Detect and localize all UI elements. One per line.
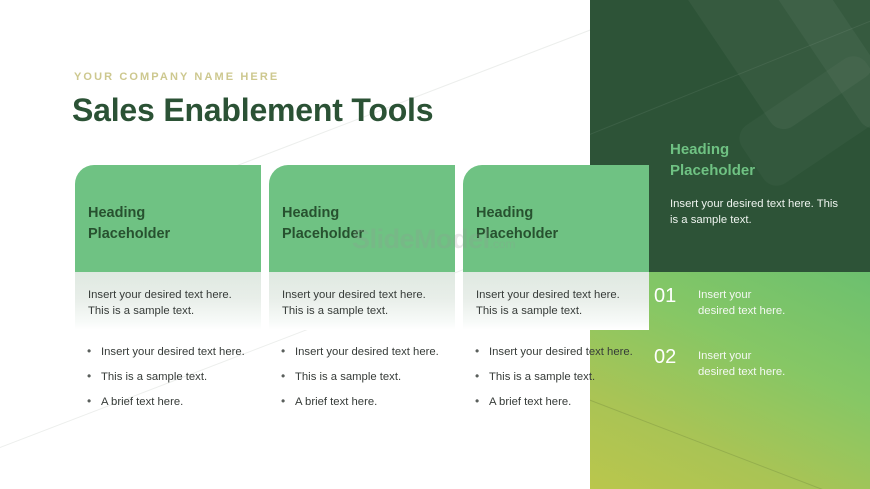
slide-canvas: YOUR COMPANY NAME HERE Sales Enablement … (0, 0, 870, 489)
item-number: 01 (654, 285, 698, 307)
card-body: Insert your desired text here. This is a… (269, 272, 455, 330)
item-number: 02 (654, 346, 698, 368)
card-bullet-list: Insert your desired text here. This is a… (75, 330, 261, 410)
list-item: A brief text here. (101, 394, 255, 410)
list-item: Insert your desired text here. (295, 344, 449, 360)
list-item: This is a sample text. (101, 369, 255, 385)
card-heading: Heading Placeholder (282, 203, 441, 244)
item-text: Insert your desired text here. (698, 285, 828, 320)
card-group: Heading Placeholder Insert your desired … (75, 165, 655, 435)
page-title: Sales Enablement Tools (72, 92, 433, 129)
card-3[interactable]: Heading Placeholder Insert your desired … (463, 165, 649, 419)
card-1[interactable]: Heading Placeholder Insert your desired … (75, 165, 261, 419)
list-item: Insert your desired text here. (489, 344, 643, 360)
list-item: Insert your desired text here. (101, 344, 255, 360)
right-panel-heading: Heading Placeholder (670, 139, 755, 182)
card-body-text: Insert your desired text here. This is a… (476, 287, 637, 319)
list-item: This is a sample text. (489, 369, 643, 385)
company-name-eyebrow: YOUR COMPANY NAME HERE (74, 71, 279, 83)
card-bullet-list: Insert your desired text here. This is a… (463, 330, 649, 410)
card-header: Heading Placeholder (463, 165, 649, 272)
item-text: Insert your desired text here. (698, 346, 828, 381)
list-item: A brief text here. (295, 394, 449, 410)
card-2[interactable]: Heading Placeholder Insert your desired … (269, 165, 455, 419)
card-header: Heading Placeholder (75, 165, 261, 272)
card-header: Heading Placeholder (269, 165, 455, 272)
card-body-text: Insert your desired text here. This is a… (282, 287, 443, 319)
card-heading: Heading Placeholder (88, 203, 247, 244)
card-heading: Heading Placeholder (476, 203, 635, 244)
list-item: This is a sample text. (295, 369, 449, 385)
card-body: Insert your desired text here. This is a… (75, 272, 261, 330)
right-panel-subtext: Insert your desired text here. This is a… (670, 196, 840, 229)
card-body: Insert your desired text here. This is a… (463, 272, 649, 330)
card-body-text: Insert your desired text here. This is a… (88, 287, 249, 319)
card-bullet-list: Insert your desired text here. This is a… (269, 330, 455, 410)
list-item: A brief text here. (489, 394, 643, 410)
